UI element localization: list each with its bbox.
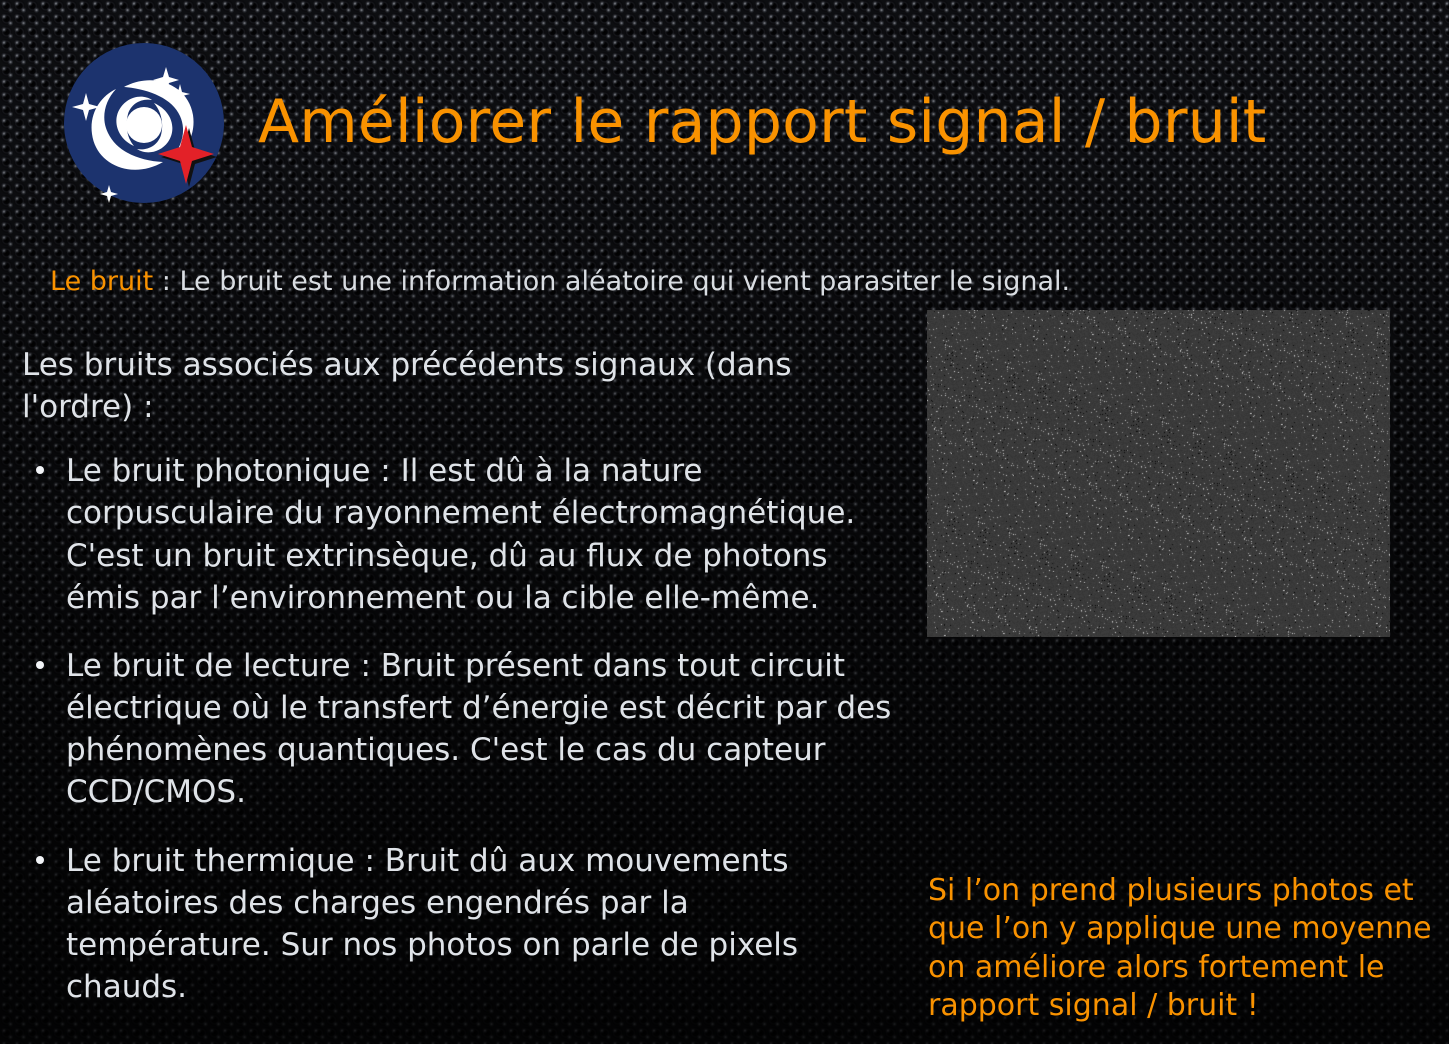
- list-item: Le bruit photonique : Il est dû à la nat…: [22, 450, 902, 619]
- page-title: Améliorer le rapport signal / bruit: [258, 92, 1267, 152]
- bullet-dot-icon: [36, 661, 44, 669]
- spiral-galaxy-logo: [62, 41, 226, 205]
- list-item-label: Le bruit de lecture : Bruit présent dans…: [66, 648, 891, 810]
- definition-term: Le bruit: [50, 266, 153, 297]
- definition-text: Le bruit est une information aléatoire q…: [179, 266, 1070, 297]
- bullet-dot-icon: [36, 856, 44, 864]
- noise-sample-image: [927, 310, 1390, 637]
- list-item: Le bruit thermique : Bruit dû aux mouvem…: [22, 840, 902, 1009]
- callout-text: Si l’on prend plusieurs photos et que l’…: [928, 872, 1428, 1026]
- definition-separator: :: [153, 266, 179, 297]
- slide-root: Améliorer le rapport signal / bruit Le b…: [0, 0, 1449, 1044]
- list-item-label: Le bruit thermique : Bruit dû aux mouvem…: [66, 843, 798, 1005]
- callout-line-4: rapport signal / bruit !: [928, 987, 1428, 1025]
- callout-line-3: on améliore alors fortement le: [928, 949, 1428, 987]
- slide-header: Améliorer le rapport signal / bruit: [0, 0, 1449, 220]
- list-item: Le bruit de lecture : Bruit présent dans…: [22, 645, 902, 814]
- spiral-galaxy-icon: [62, 41, 226, 205]
- intro-paragraph: Les bruits associés aux précédents signa…: [22, 344, 902, 428]
- bullet-dot-icon: [36, 466, 44, 474]
- content-column: Les bruits associés aux précédents signa…: [22, 344, 902, 1034]
- callout-line-1: Si l’on prend plusieurs photos et: [928, 872, 1428, 910]
- definition-line: Le bruit : Le bruit est une information …: [50, 266, 1410, 298]
- callout-line-2: que l’on y applique une moyenne: [928, 910, 1428, 948]
- list-item-label: Le bruit photonique : Il est dû à la nat…: [66, 453, 855, 615]
- noise-texture: [927, 310, 1390, 637]
